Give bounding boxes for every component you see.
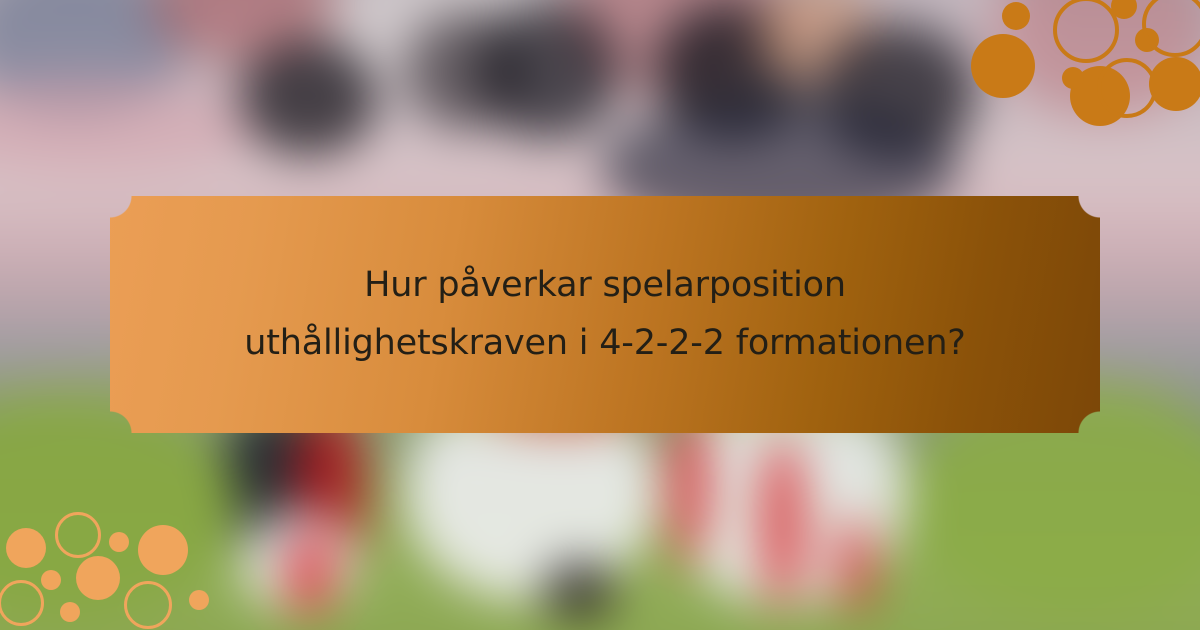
kit-blur-red-stripe-1 xyxy=(287,532,329,617)
headline-banner: Hur påverkar spelarposition uthållighets… xyxy=(110,196,1100,433)
headline-line-2: uthållighetskraven i 4-2-2-2 formationen… xyxy=(244,323,965,364)
player-head-blur-1 xyxy=(240,39,378,156)
headline-line-1: Hur påverkar spelarposition xyxy=(364,265,846,306)
kit-blur-red-5 xyxy=(833,516,875,611)
kit-blur-red-4 xyxy=(759,437,806,607)
banner-text-block: Hur påverkar spelarposition uthållighets… xyxy=(110,196,1100,433)
kit-blur-dark-gap xyxy=(542,559,616,623)
player-head-blur-3 xyxy=(473,2,621,140)
share-card: Hur påverkar spelarposition uthållighets… xyxy=(0,0,1200,630)
